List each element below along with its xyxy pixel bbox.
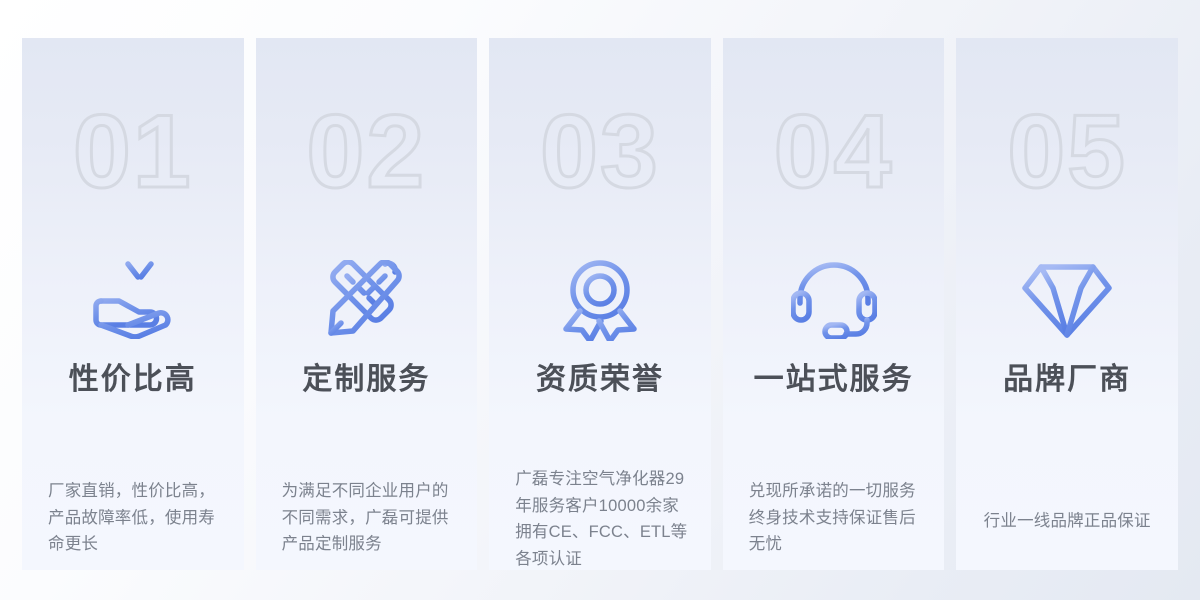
feature-card[interactable]: 03 资质荣誉 广磊专注空气净化器29 [489,38,711,570]
card-description: 厂家直销，性价比高，产品故障率低，使用寿命更长 [48,478,224,558]
feature-card-list: 01 [22,38,1178,570]
card-watermark-number: 01 [22,100,244,204]
card-description: 广磊专注空气净化器29年服务客户10000余家拥有CE、FCC、ETL等各项认证 [515,466,691,570]
diamond-icon [956,260,1178,340]
feature-card[interactable]: 02 [256,38,478,570]
card-description: 兑现所承诺的一切服务终身技术支持保证售后无忧 [749,478,925,558]
card-description: 为满足不同企业用户的不同需求，广磊可提供产品定制服务 [282,478,458,558]
feature-card[interactable]: 05 品牌厂商 行业一线品牌正品保证 [956,38,1178,570]
pencil-ruler-icon [256,260,478,340]
card-watermark-number: 03 [489,100,711,204]
card-title: 定制服务 [256,360,478,399]
card-title: 一站式服务 [723,360,945,399]
feature-card[interactable]: 01 [22,38,244,570]
card-watermark-number: 05 [956,100,1178,204]
card-title: 资质荣誉 [489,360,711,399]
hand-holding-yuan-icon [22,260,244,340]
card-watermark-number: 04 [723,100,945,204]
feature-card[interactable]: 04 [723,38,945,570]
feature-highlights-banner: 01 [0,0,1200,600]
headset-icon [723,260,945,340]
card-title: 性价比高 [22,360,244,399]
card-title: 品牌厂商 [956,360,1178,399]
award-medal-icon [489,260,711,340]
card-watermark-number: 02 [256,100,478,204]
card-description: 行业一线品牌正品保证 [970,508,1164,535]
